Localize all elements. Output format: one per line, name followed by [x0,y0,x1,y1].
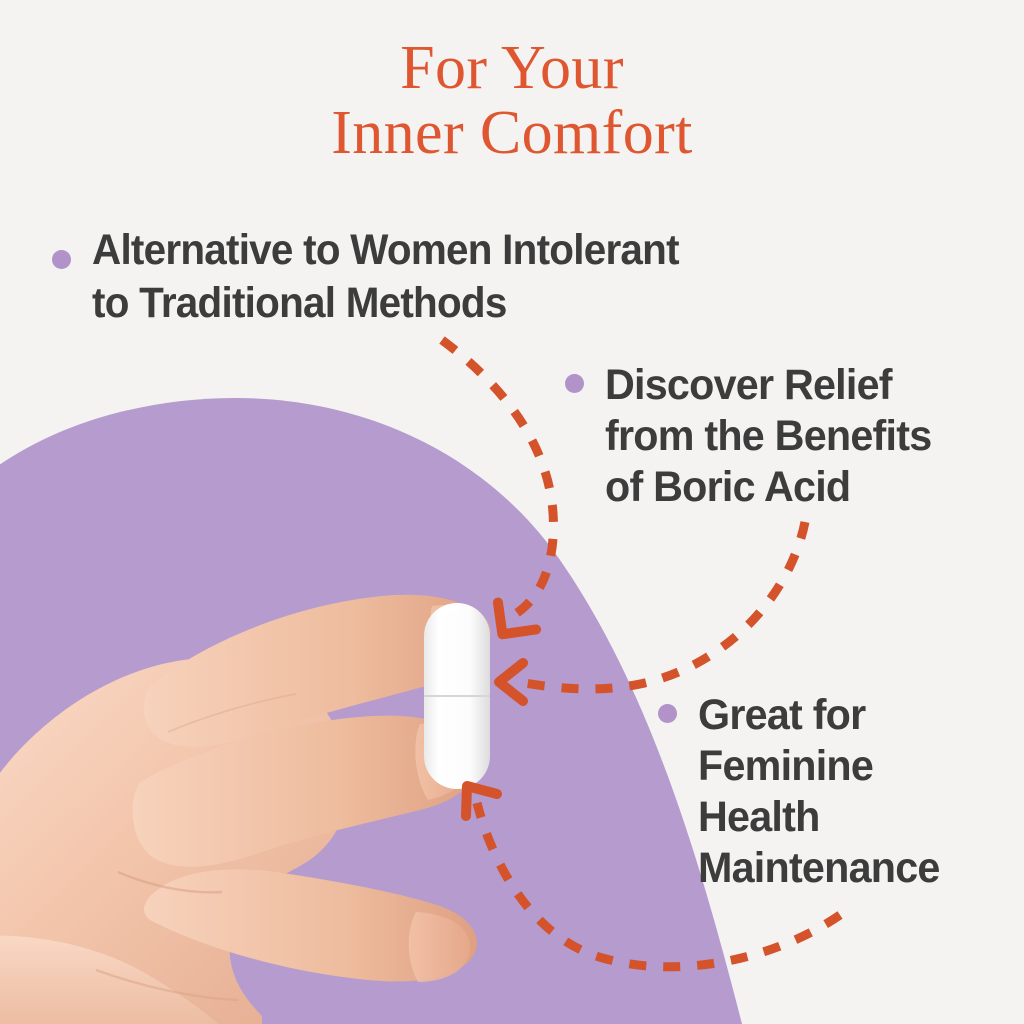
feature-bullet-boric-acid: Discover Relief from the Benefits of Bor… [565,360,945,513]
infographic-canvas: For Your Inner Comfort Alternative to Wo… [0,0,1024,1024]
bullet-line: Discover Relief [605,360,931,411]
bullet-line: Maintenance [698,843,940,894]
feature-bullet-text: Discover Relief from the Benefits of Bor… [605,360,931,513]
bullet-line: to Traditional Methods [92,277,679,330]
page-title: For Your Inner Comfort [0,36,1024,166]
bullet-dot-icon [565,374,584,393]
bullet-line: of Boric Acid [605,462,931,513]
feature-bullet-text: Alternative to Women Intolerant to Tradi… [92,224,679,330]
hand-holding-capsule-illustration [0,380,560,1024]
bullet-line: from the Benefits [605,411,931,462]
feature-bullet-feminine-health: Great for Feminine Health Maintenance [658,690,950,894]
bullet-line: Great for [698,690,940,741]
feature-bullet-text: Great for Feminine Health Maintenance [698,690,940,894]
bullet-line: Health [698,792,940,843]
headline-line-2: Inner Comfort [0,101,1024,166]
feature-bullet-alternative: Alternative to Women Intolerant to Tradi… [52,224,716,330]
headline-line-1: For Your [0,36,1024,101]
bullet-dot-icon [658,704,677,723]
capsule [424,603,490,789]
bullet-dot-icon [52,250,71,269]
bullet-line: Alternative to Women Intolerant [92,224,679,277]
bullet-line: Feminine [698,741,940,792]
